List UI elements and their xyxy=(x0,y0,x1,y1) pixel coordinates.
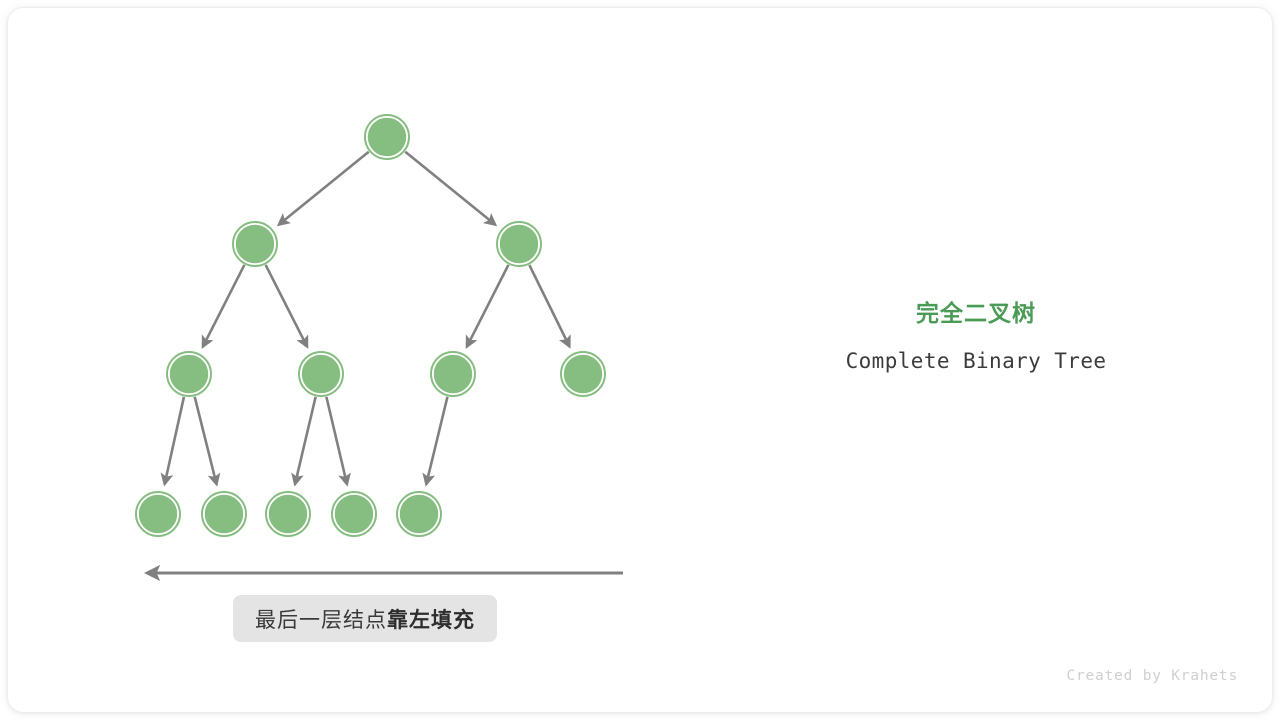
tree-edge-group xyxy=(165,152,570,485)
tree-node xyxy=(202,492,246,536)
tree-node xyxy=(365,115,409,159)
tree-node-circle xyxy=(138,494,178,534)
tree-edge xyxy=(426,397,447,485)
tree-node-circle xyxy=(301,354,341,394)
tree-node-circle xyxy=(399,494,439,534)
tree-edge xyxy=(203,265,245,347)
page-title: 完全二叉树 xyxy=(768,300,1184,328)
tree-node xyxy=(233,222,277,266)
tree-edge xyxy=(195,397,217,485)
tree-edge xyxy=(467,265,509,347)
tree-node-circle xyxy=(433,354,473,394)
figure-card: 完全二叉树 Complete Binary Tree 最后一层结点靠左填充 Cr… xyxy=(8,8,1272,712)
tree-node xyxy=(497,222,541,266)
tree-node-circle xyxy=(268,494,308,534)
tree-node xyxy=(397,492,441,536)
status-badge: 最后一层结点靠左填充 xyxy=(233,595,497,642)
tree-edge xyxy=(529,265,569,347)
tree-node-circle xyxy=(367,117,407,157)
tree-edge xyxy=(165,397,184,484)
tree-node xyxy=(299,352,343,396)
tree-node xyxy=(266,492,310,536)
badge-label-bold: 靠左填充 xyxy=(387,604,475,634)
tree-node xyxy=(561,352,605,396)
tree-node xyxy=(332,492,376,536)
badge-label-normal: 最后一层结点 xyxy=(255,604,387,634)
tree-node xyxy=(431,352,475,396)
caption-block: 完全二叉树 Complete Binary Tree xyxy=(768,300,1184,373)
tree-node xyxy=(167,352,211,396)
tree-node-circle xyxy=(169,354,209,394)
caption-subtitle: Complete Binary Tree xyxy=(768,349,1184,373)
tree-node xyxy=(136,492,180,536)
tree-node-circle xyxy=(334,494,374,534)
footer-credit: Created by Krahets xyxy=(1066,668,1238,684)
tree-node-circle xyxy=(499,224,539,264)
tree-edge xyxy=(405,152,495,225)
tree-node-group xyxy=(136,115,605,536)
tree-edge xyxy=(266,265,308,347)
screenshot-root: 完全二叉树 Complete Binary Tree 最后一层结点靠左填充 Cr… xyxy=(0,0,1280,720)
tree-node-circle xyxy=(235,224,275,264)
tree-node-circle xyxy=(204,494,244,534)
tree-edge xyxy=(279,152,369,225)
tree-node-circle xyxy=(563,354,603,394)
tree-edge xyxy=(326,397,347,484)
tree-edge xyxy=(295,397,316,484)
